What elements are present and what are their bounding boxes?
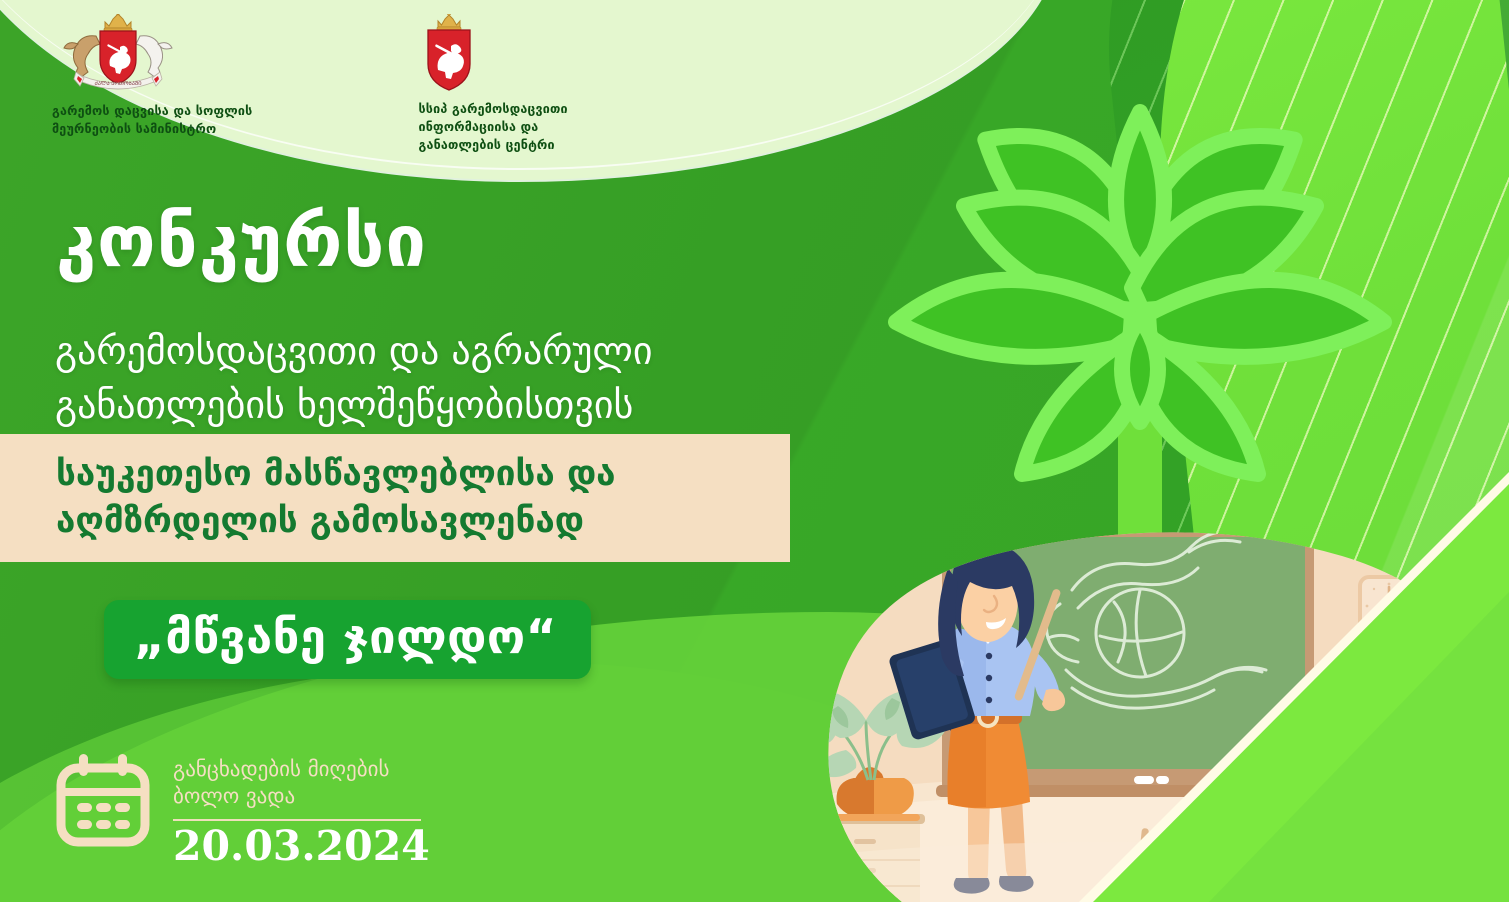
calendar-icon	[55, 752, 151, 848]
page-subtitle: გარემოსდაცვითი და აგრარული განათლების ხე…	[55, 325, 815, 433]
poster-root: ᲫᲐᲚᲐ ᲔᲠᲗᲝᲑᲐᲨᲘ გარემოს დაცვისა და სოფლის …	[0, 0, 1509, 902]
logo-ministry-label: გარემოს დაცვისა და სოფლის მეურნეობის სამ…	[52, 102, 252, 138]
highlight-banner: საუკეთესო მასწავლებლისა და აღმზრდელის გა…	[0, 434, 790, 562]
deadline-date: 20.03.2024	[173, 825, 430, 868]
logo-row: ᲫᲐᲚᲐ ᲔᲠᲗᲝᲑᲐᲨᲘ გარემოს დაცვისა და სოფლის …	[52, 14, 568, 153]
award-name-text: „მწვანე ჯილდო“	[134, 614, 557, 661]
logo-ministry: ᲫᲐᲚᲐ ᲔᲠᲗᲝᲑᲐᲨᲘ გარემოს დაცვისა და სოფლის …	[52, 14, 252, 138]
deadline-text-col: განცხადების მიღების ბოლო ვადა 20.03.2024	[173, 752, 430, 868]
classroom-illustration	[742, 498, 1509, 902]
georgia-coat-of-arms-icon: ᲫᲐᲚᲐ ᲔᲠᲗᲝᲑᲐᲨᲘ	[62, 14, 174, 96]
svg-text:ᲫᲐᲚᲐ ᲔᲠᲗᲝᲑᲐᲨᲘ: ᲫᲐᲚᲐ ᲔᲠᲗᲝᲑᲐᲨᲘ	[94, 81, 141, 87]
deadline-divider	[173, 819, 421, 821]
page-title: კონკურსი	[56, 205, 427, 277]
deadline-label: განცხადების მიღების ბოლო ვადა	[173, 756, 425, 810]
logo-center-label: სსიპ გარემოსდაცვითი ინფორმაციისა და განა…	[418, 100, 567, 153]
logo-center: სსიპ გარემოსდაცვითი ინფორმაციისა და განა…	[418, 14, 567, 153]
highlight-banner-text: საუკეთესო მასწავლებლისა და აღმზრდელის გა…	[56, 451, 776, 545]
georgia-shield-crest-icon	[418, 14, 480, 94]
deadline-block: განცხადების მიღების ბოლო ვადა 20.03.2024	[55, 752, 430, 868]
award-name-pill: „მწვანე ჯილდო“	[104, 600, 591, 679]
